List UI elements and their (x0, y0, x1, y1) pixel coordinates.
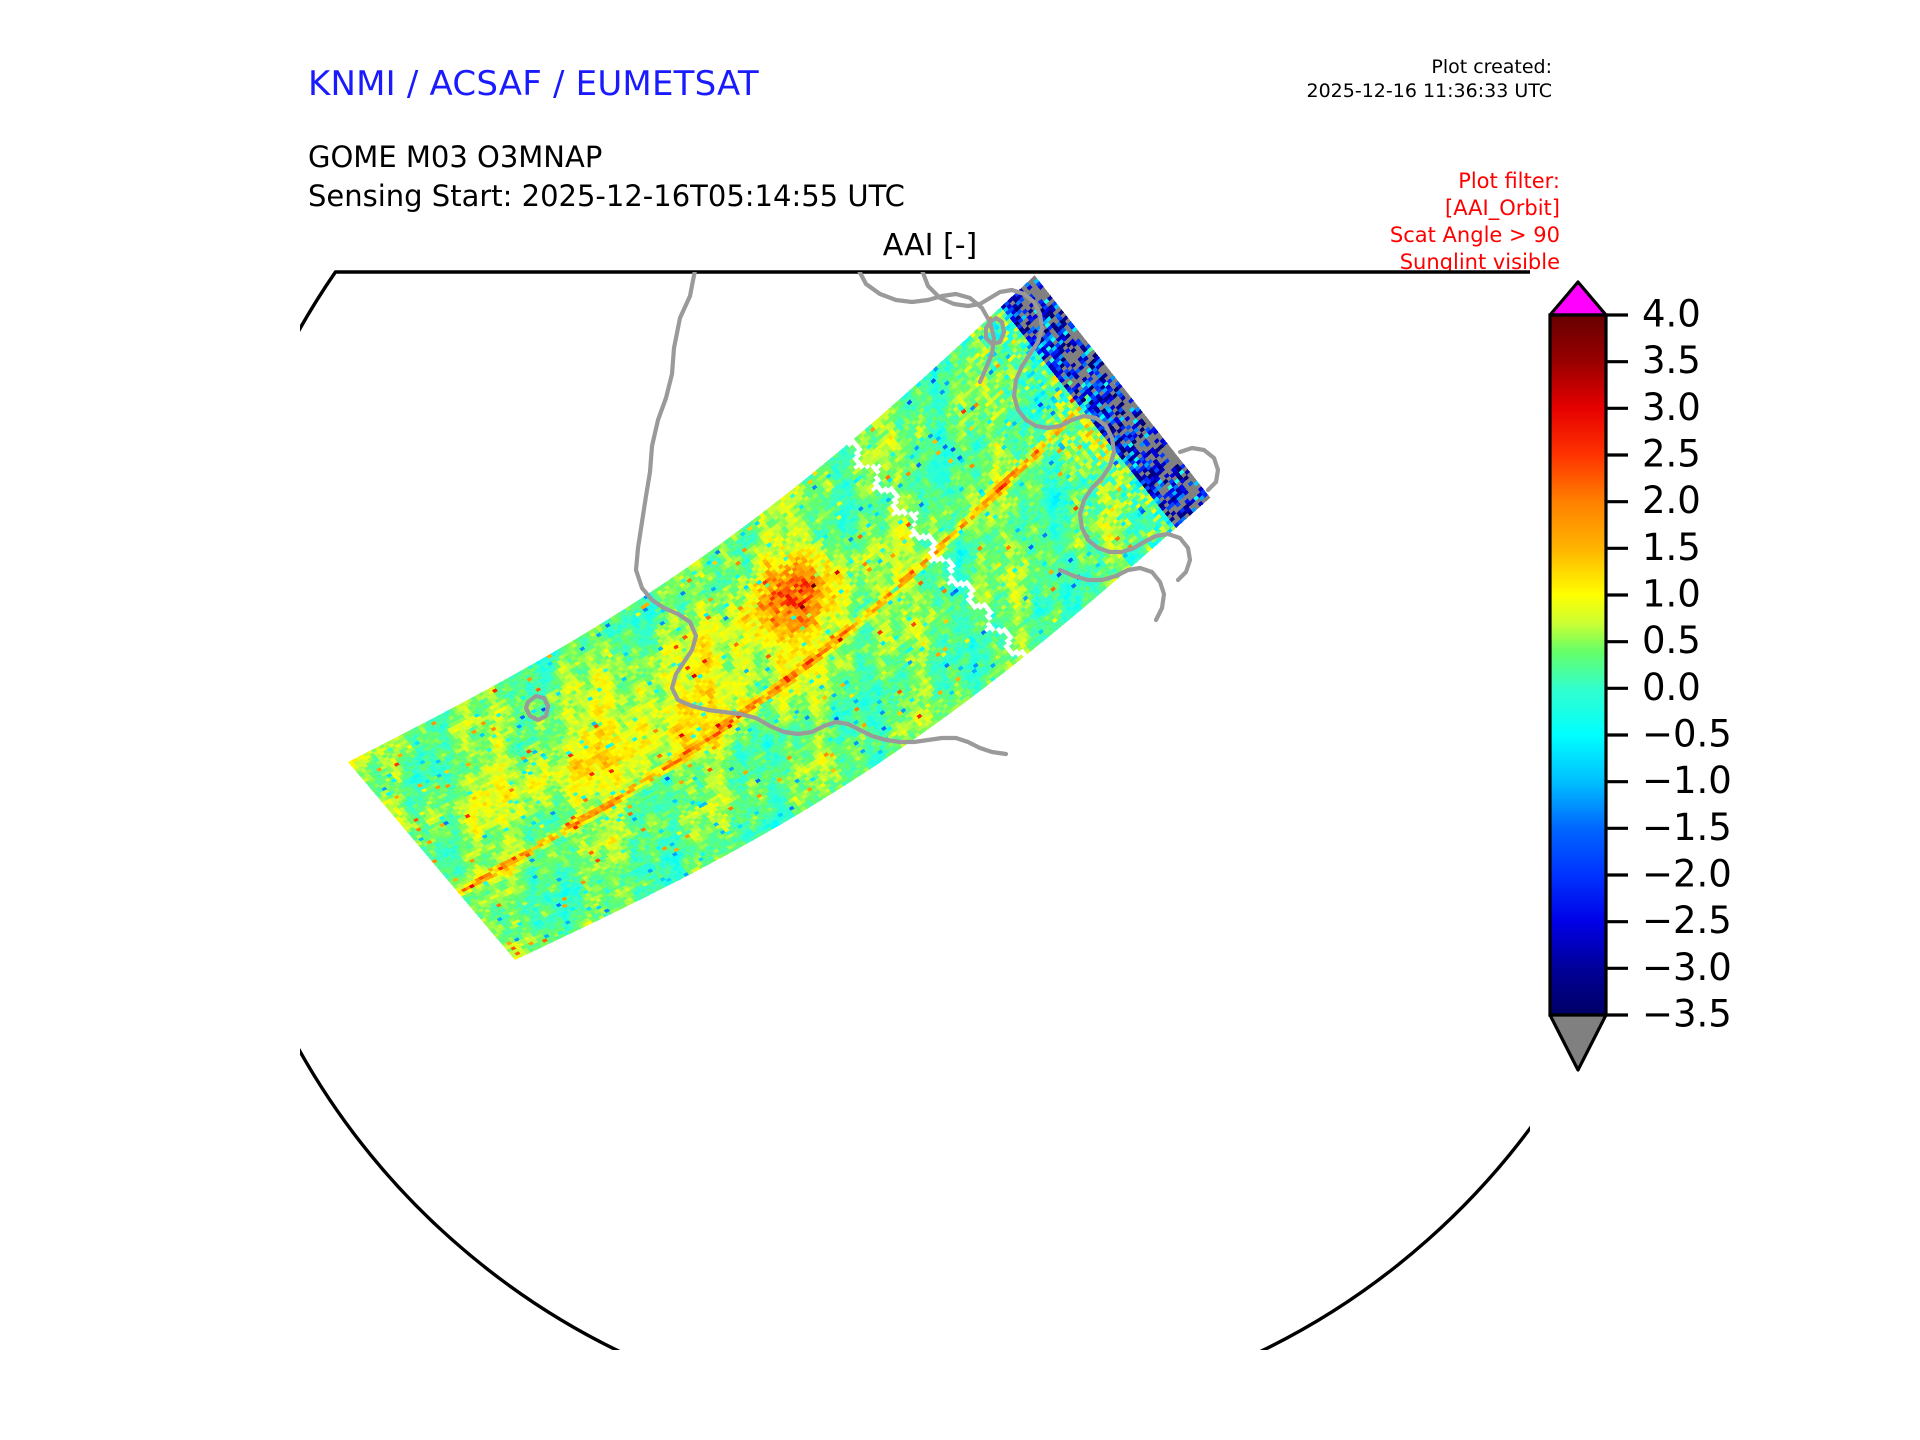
plot-filter-label: Plot filter: (1390, 168, 1560, 195)
sensing-start-line: Sensing Start: 2025-12-16T05:14:55 UTC (308, 177, 905, 216)
plot-filter-name: [AAI_Orbit] (1390, 195, 1560, 222)
scene-title-block: GOME M03 O3MNAP Sensing Start: 2025-12-1… (308, 138, 905, 215)
plot-created-timestamp: 2025-12-16 11:36:33 UTC (1307, 80, 1553, 104)
plot-created-label: Plot created: (1307, 56, 1553, 80)
instrument-product-line: GOME M03 O3MNAP (308, 138, 905, 177)
plot-filter-scat-angle: Scat Angle > 90 (1390, 222, 1560, 249)
map-canvas (300, 270, 1530, 1350)
plot-filter-block: Plot filter: [AAI_Orbit] Scat Angle > 90… (1390, 168, 1560, 276)
organisation-title: KNMI / ACSAF / EUMETSAT (308, 64, 759, 104)
map-plot-area (300, 270, 1530, 1350)
plot-created-block: Plot created: 2025-12-16 11:36:33 UTC (1307, 56, 1553, 104)
variable-title: AAI [-] (330, 228, 1530, 263)
